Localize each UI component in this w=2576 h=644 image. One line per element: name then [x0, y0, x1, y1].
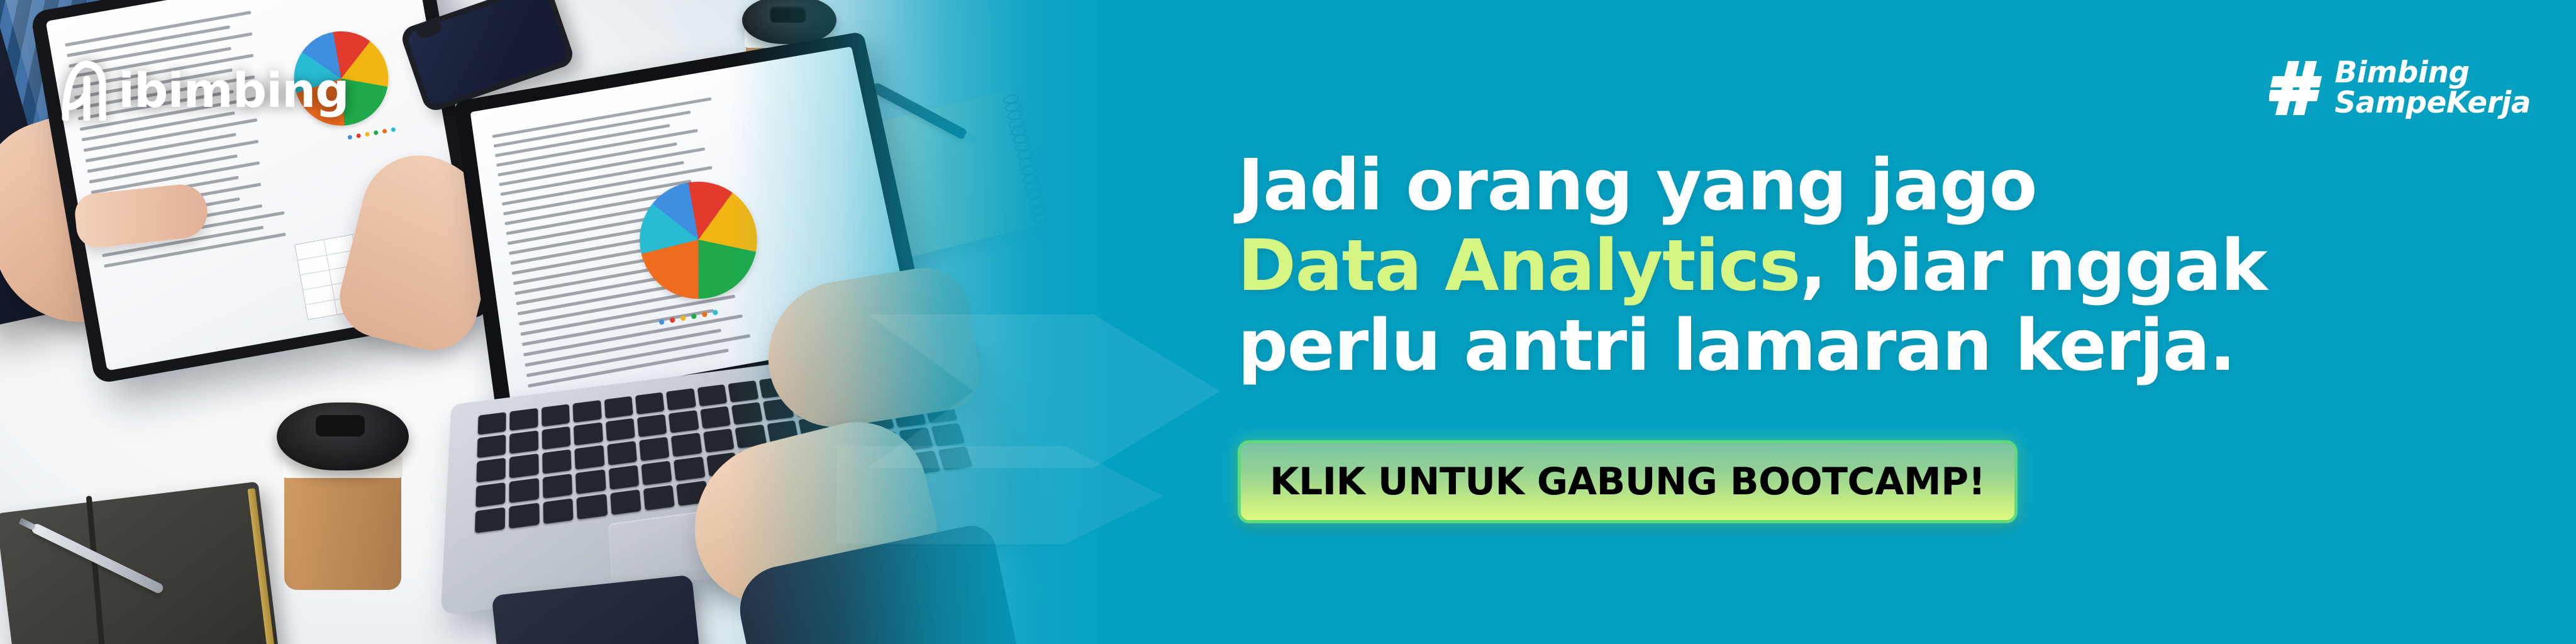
headline-line-2: Data Analytics, biar nggak — [1238, 226, 2433, 307]
ibimbing-arch-mark — [60, 60, 108, 121]
hashtag-wordmark: Bimbing SampeKerja — [2334, 58, 2531, 118]
headline: Jadi orang yang jago Data Analytics, bia… — [1238, 146, 2433, 387]
hashtag-line-2: SampeKerja — [2334, 88, 2531, 118]
headline-accent-term: Data Analytics — [1238, 225, 1800, 307]
bimbing-sampe-kerja-logo: Bimbing SampeKerja — [2269, 58, 2531, 118]
join-bootcamp-cta-button[interactable]: KLIK UNTUK GABUNG BOOTCAMP! — [1238, 440, 2018, 523]
ibimbing-logo[interactable]: ibimbing — [60, 60, 349, 121]
hash-icon — [2269, 58, 2323, 118]
coffee-cup-bottom — [277, 402, 409, 591]
headline-line-2-rest: , biar nggak — [1800, 225, 2267, 307]
coffee-cup-bottom-sleeve — [284, 470, 401, 590]
notebook-elastic-band — [86, 496, 110, 644]
coffee-cup-bottom-lid — [277, 402, 409, 470]
promo-banner: ibimbing Jadi orang yang jago Data Analy… — [0, 0, 2576, 644]
hashtag-line-1: Bimbing — [2334, 58, 2531, 88]
headline-line-3: perlu antri lamaran kerja. — [1238, 306, 2433, 387]
coffee-cup-lid — [742, 0, 836, 44]
ibimbing-wordmark: ibimbing — [118, 67, 349, 114]
headline-line-1: Jadi orang yang jago — [1238, 146, 2433, 226]
